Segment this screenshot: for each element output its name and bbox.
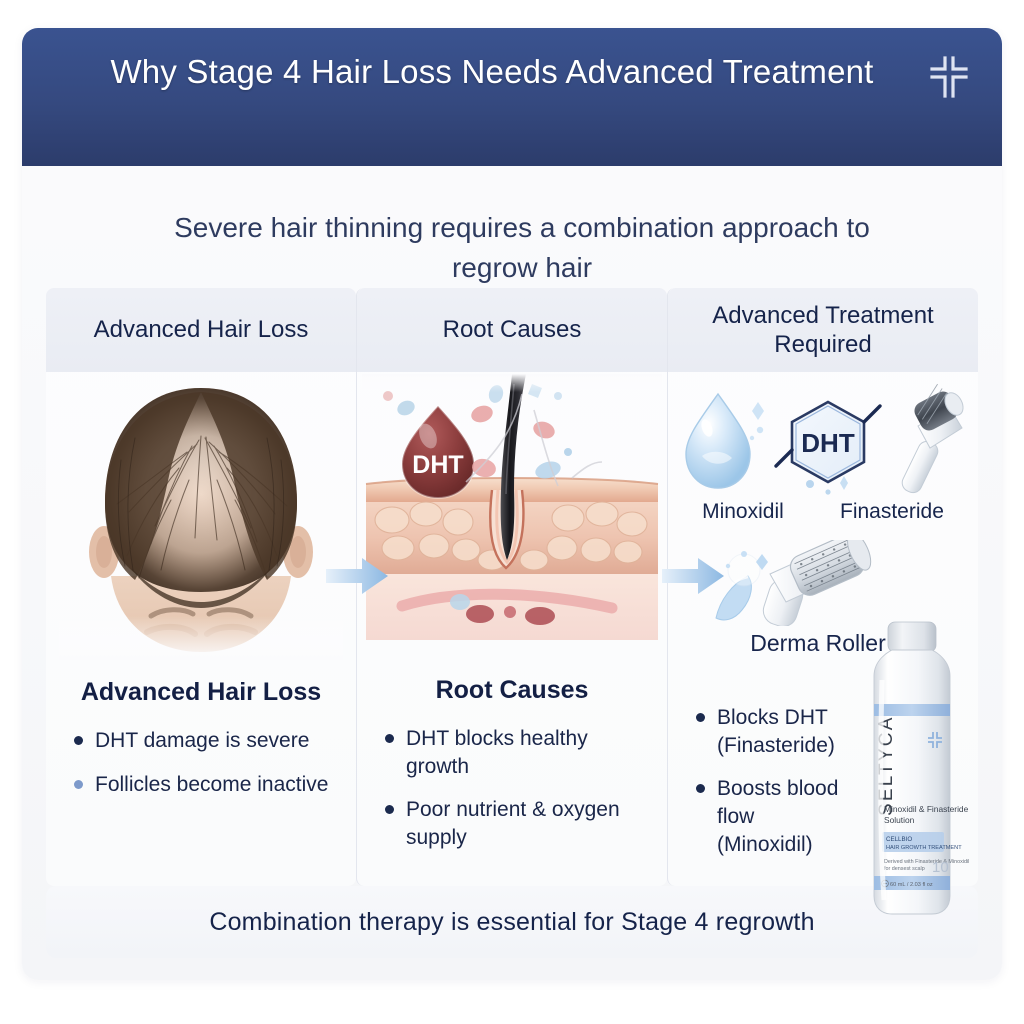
footer-text: Combination therapy is essential for Sta… — [209, 908, 814, 937]
illustration-skin-cross-section: DHT — [357, 372, 667, 664]
list-item: DHT blocks healthy growth — [385, 725, 653, 780]
footer-banner: Combination therapy is essential for Sta… — [46, 886, 978, 958]
subtitle: Severe hair thinning requires a combinat… — [172, 208, 872, 288]
dht-drop-icon: DHT — [402, 406, 474, 498]
bullet-text: DHT damage is severe — [95, 727, 342, 755]
column-body-title-1: Advanced Hair Loss — [60, 678, 342, 707]
column-header-band-1: Advanced Hair Loss — [46, 288, 356, 372]
product-desc-line2: for densest scalp — [884, 866, 925, 872]
treatment-label-finasteride: Finasteride — [840, 500, 944, 524]
svg-text:DHT: DHT — [412, 451, 463, 479]
product-count: 10 — [932, 859, 949, 876]
bullet-dot-icon — [385, 734, 394, 743]
bullet-text: Blocks DHT (Finasteride) — [717, 704, 844, 759]
bullet-dot-icon — [74, 780, 83, 789]
medical-cross-icon — [928, 56, 970, 98]
bullet-text: DHT blocks healthy growth — [406, 725, 653, 780]
product-volume: 60 mL / 2.03 fl oz — [890, 882, 933, 888]
bullet-list-1: DHT damage is severe Follicles become in… — [74, 727, 342, 798]
dht-hexagon-blocked-icon: DHT — [776, 402, 880, 495]
bullet-list-2: DHT blocks healthy growth Poor nutrient … — [385, 725, 653, 852]
bullet-list-3: Blocks DHT (Finasteride) Boosts blood fl… — [696, 704, 844, 859]
illustration-balding-scalp — [46, 372, 356, 664]
bullet-text: Boosts blood flow (Minoxidil) — [717, 775, 844, 858]
column-band-title-1: Advanced Hair Loss — [94, 315, 309, 344]
list-item: Poor nutrient & oxygen supply — [385, 796, 653, 851]
column-band-title-3: Advanced Treatment Required — [678, 301, 968, 360]
list-item: Boosts blood flow (Minoxidil) — [696, 775, 844, 858]
bullet-text: Poor nutrient & oxygen supply — [406, 796, 653, 851]
column-body-1: Advanced Hair Loss DHT damage is severe … — [46, 678, 356, 798]
column-body-2: Root Causes DHT blocks healthy growth Po… — [357, 676, 667, 852]
product-bottle: SELTYCA Minoxidil & Finasteride Solution… — [850, 620, 974, 920]
product-band-line1: CELLBIO — [886, 836, 912, 843]
columns-container: Advanced Hair Loss — [46, 288, 978, 886]
balding-scalp-top-view-icon — [59, 380, 343, 660]
column-root-causes: Root Causes — [356, 288, 667, 886]
list-item: Blocks DHT (Finasteride) — [696, 704, 844, 759]
bullet-dot-icon — [696, 784, 705, 793]
column-band-title-2: Root Causes — [443, 315, 582, 344]
arrow-col1-to-col2 — [326, 556, 388, 596]
product-name-line2: Solution — [884, 815, 915, 825]
product-name-line1: Minoxidil & Finasteride — [884, 804, 969, 814]
bullet-dot-icon — [696, 713, 705, 722]
skin-cross-section-hair-follicle-icon: DHT — [362, 374, 662, 664]
list-item: DHT damage is severe — [74, 727, 342, 755]
product-band-line2: HAIR GROWTH TREATMENT — [886, 845, 962, 851]
column-header-band-2: Root Causes — [357, 288, 667, 372]
list-item: Follicles become inactive — [74, 771, 342, 799]
bullet-text: Follicles become inactive — [95, 771, 342, 799]
column-header-band-3: Advanced Treatment Required — [668, 288, 978, 372]
derma-roller-icon — [899, 384, 967, 496]
column-body-title-2: Root Causes — [371, 676, 653, 705]
water-drop-icon — [686, 394, 764, 488]
infographic-canvas: Why Stage 4 Hair Loss Needs Advanced Tre… — [0, 0, 1024, 1024]
infographic-card: Why Stage 4 Hair Loss Needs Advanced Tre… — [22, 28, 1002, 980]
bullet-dot-icon — [385, 805, 394, 814]
page-title: Why Stage 4 Hair Loss Needs Advanced Tre… — [92, 50, 892, 95]
product-desc-line1: Derived with Finasteride & Minoxidil — [884, 859, 969, 865]
column-advanced-hair-loss: Advanced Hair Loss — [46, 288, 356, 886]
arrow-col2-to-col3 — [662, 556, 724, 596]
treatment-icon-row: DHT — [676, 380, 976, 498]
treatment-label-row: Minoxidil Finasteride — [668, 500, 978, 524]
svg-text:DHT: DHT — [801, 428, 855, 458]
treatment-label-minoxidil: Minoxidil — [702, 500, 784, 524]
header-bar: Why Stage 4 Hair Loss Needs Advanced Tre… — [22, 28, 1002, 166]
bullet-dot-icon — [74, 736, 83, 745]
